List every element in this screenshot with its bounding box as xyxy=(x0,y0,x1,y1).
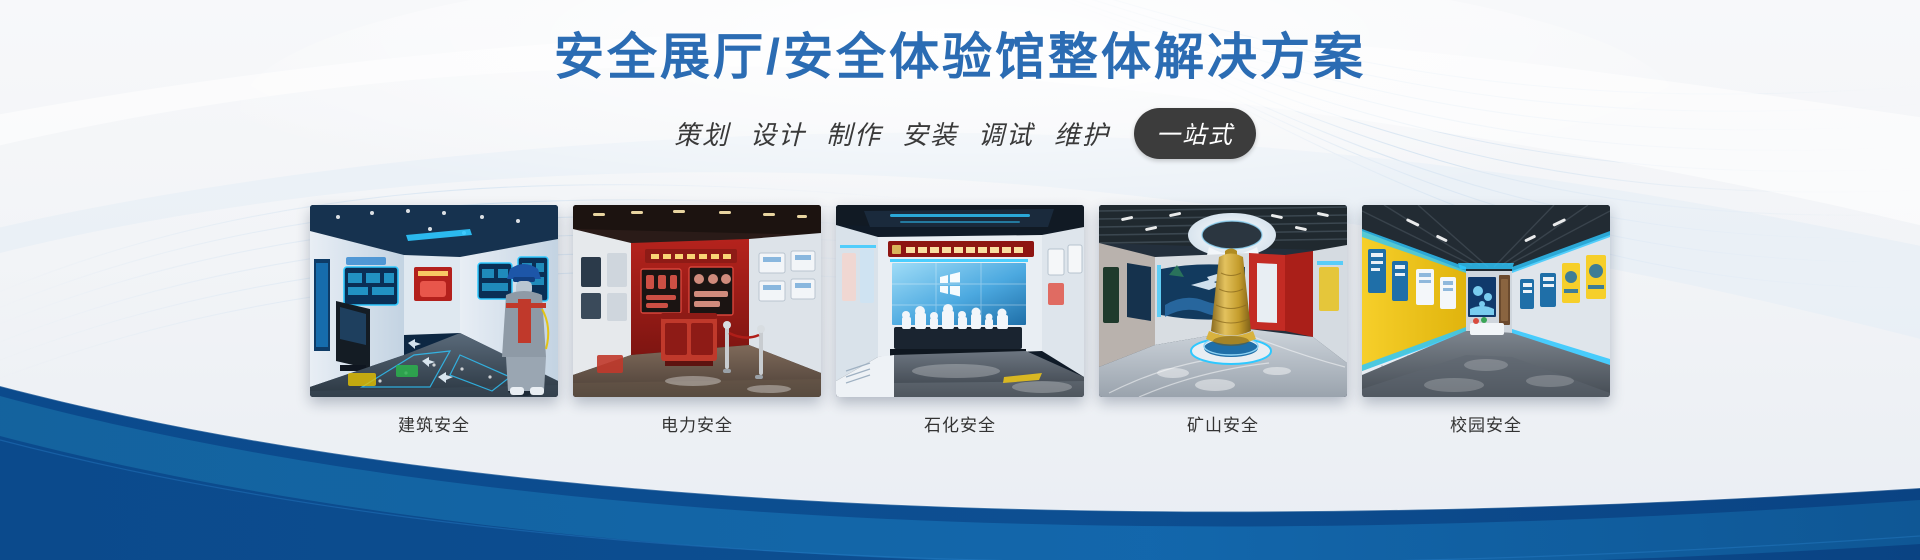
subtitle-word-4: 安装 xyxy=(892,115,968,152)
promo-banner: 安全展厅/安全体验馆整体解决方案 策划 设计 制作 安装 调试 维护 一站式 xyxy=(0,0,1920,560)
one-stop-badge: 一站式 xyxy=(1134,108,1256,159)
page-title: 安全展厅/安全体验馆整体解决方案 xyxy=(0,0,1920,86)
subtitle-row: 策划 设计 制作 安装 调试 维护 一站式 xyxy=(0,108,1920,159)
bottom-wave-band xyxy=(0,300,1920,560)
headline-block: 安全展厅/安全体验馆整体解决方案 策划 设计 制作 安装 调试 维护 一站式 xyxy=(0,0,1920,159)
subtitle-word-3: 制作 xyxy=(816,115,892,152)
subtitle-word-5: 调试 xyxy=(968,115,1044,152)
subtitle-word-6: 维护 xyxy=(1044,115,1120,152)
subtitle-word-1: 策划 xyxy=(664,115,740,152)
subtitle-word-2: 设计 xyxy=(740,115,816,152)
